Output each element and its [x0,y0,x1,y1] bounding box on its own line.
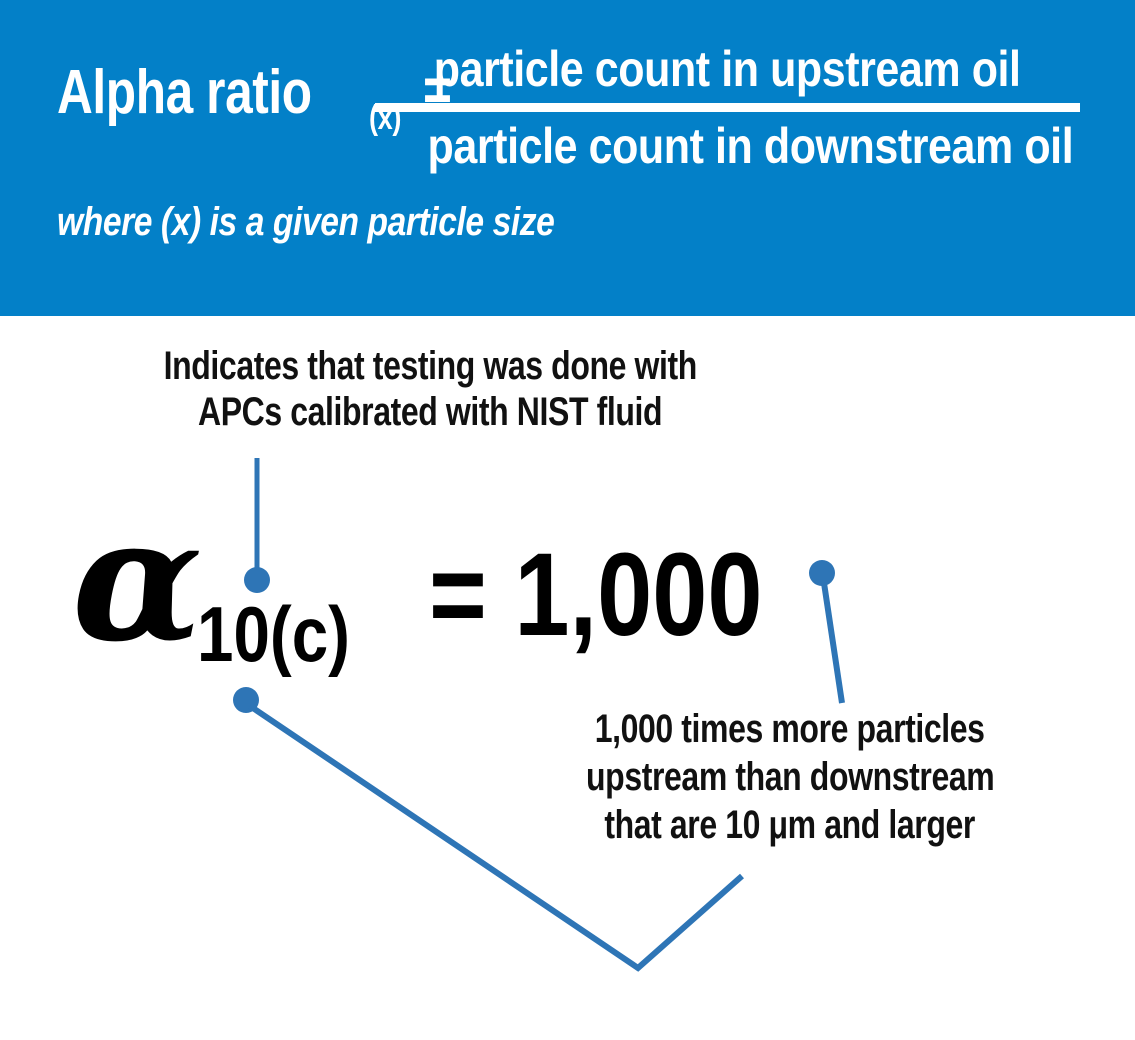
alpha-subscript: 10(c) [197,595,350,673]
fraction-bar [375,103,1080,112]
callout-meaning: 1,000 times more particles upstream than… [500,705,1080,849]
fraction-denominator: particle count in downstream oil [375,119,1080,173]
fraction-numerator: particle count in upstream oil [375,42,1080,96]
infographic-canvas: Alpha ratio (x) = particle count in upst… [0,0,1135,1040]
callout-nist-line-2: APCs calibrated with NIST fluid [198,389,662,435]
callout-meaning-line-1: 1,000 times more particles [595,705,985,753]
where-note-text: where (x) is a given particle size [57,200,554,244]
leader-line-value [824,583,842,703]
callout-nist-line-1: Indicates that testing was done with [163,343,696,389]
fraction-denominator-text: particle count in downstream oil [428,119,1074,173]
alpha-ratio-fraction: particle count in upstream oil particle … [375,42,1080,173]
leader-dot-particle-size [233,687,259,713]
alpha-ratio-label: Alpha ratio [57,62,312,124]
callout-meaning-line-2: upstream than downstream [586,753,994,801]
fraction-numerator-text: particle count in upstream oil [434,42,1021,96]
alpha-equation-result: = 1,000 [429,536,762,654]
alpha-example-equation: α 10(c) = 1,000 [72,505,826,658]
callout-nist: Indicates that testing was done with APC… [45,343,815,435]
where-note: where (x) is a given particle size [57,200,649,244]
callout-meaning-line-3: that are 10 μm and larger [605,801,976,849]
alpha-symbol: α [72,505,203,655]
